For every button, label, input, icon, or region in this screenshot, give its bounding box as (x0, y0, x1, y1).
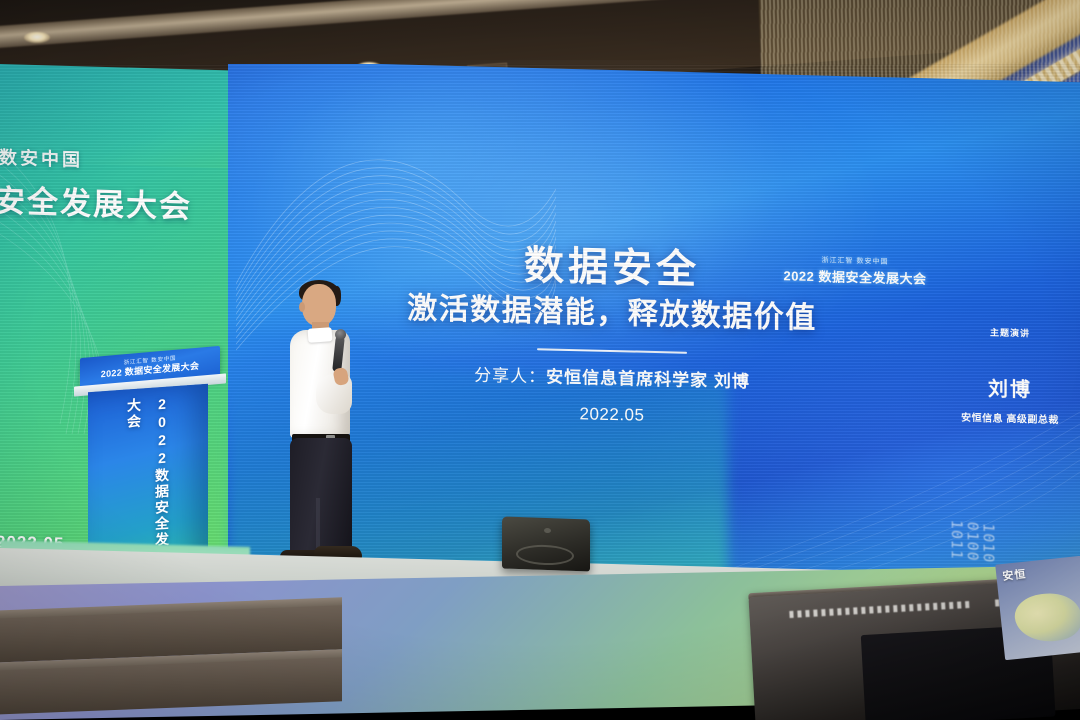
slide-presenter-label: 分享人： (474, 366, 546, 387)
presenter-collar (308, 327, 333, 343)
left-banner-line2: …据安全发展大会 (0, 173, 228, 227)
presenter-figure (272, 282, 368, 570)
side-display-panel: 安恒 (995, 556, 1080, 660)
presenter-trousers (290, 438, 352, 554)
slide-presenter-line: 分享人：安恒信息首席科学家 刘博 (392, 359, 832, 395)
speaker-title: 安恒信息 高级副总裁 (948, 408, 1072, 426)
slide-presenter-value: 安恒信息首席科学家 刘博 (546, 367, 750, 391)
left-banner-text: …汇数 数安中国 …据安全发展大会 (0, 141, 228, 227)
ceiling-spotlight-icon (24, 32, 50, 43)
slide-subtitle: 激活数据潜能，释放数据价值 (392, 289, 832, 340)
slide-divider (537, 348, 687, 354)
slide-title: 数据安全 (392, 239, 832, 298)
speaker-driver-icon (544, 528, 551, 533)
conference-stage-photo: 1010 0100 1011 …汇数 数安中国 …据安全发展大会 2022.05… (0, 0, 1080, 720)
speaker-name: 刘博 (948, 371, 1072, 403)
stage-steps (0, 600, 320, 720)
speaker-role: 主题演讲 (948, 324, 1072, 340)
side-display-graphic (1013, 590, 1080, 645)
floor-monitor-speaker (502, 516, 590, 571)
presenter-ear (299, 302, 305, 312)
presenter-head (302, 284, 336, 326)
speaker-info-panel: 主题演讲 刘博 安恒信息 高级副总裁 (948, 324, 1072, 426)
presentation-slide: 数据安全 激活数据潜能，释放数据价值 分享人：安恒信息首席科学家 刘博 2022… (392, 239, 832, 431)
side-display-logo: 安恒 (1002, 566, 1028, 584)
